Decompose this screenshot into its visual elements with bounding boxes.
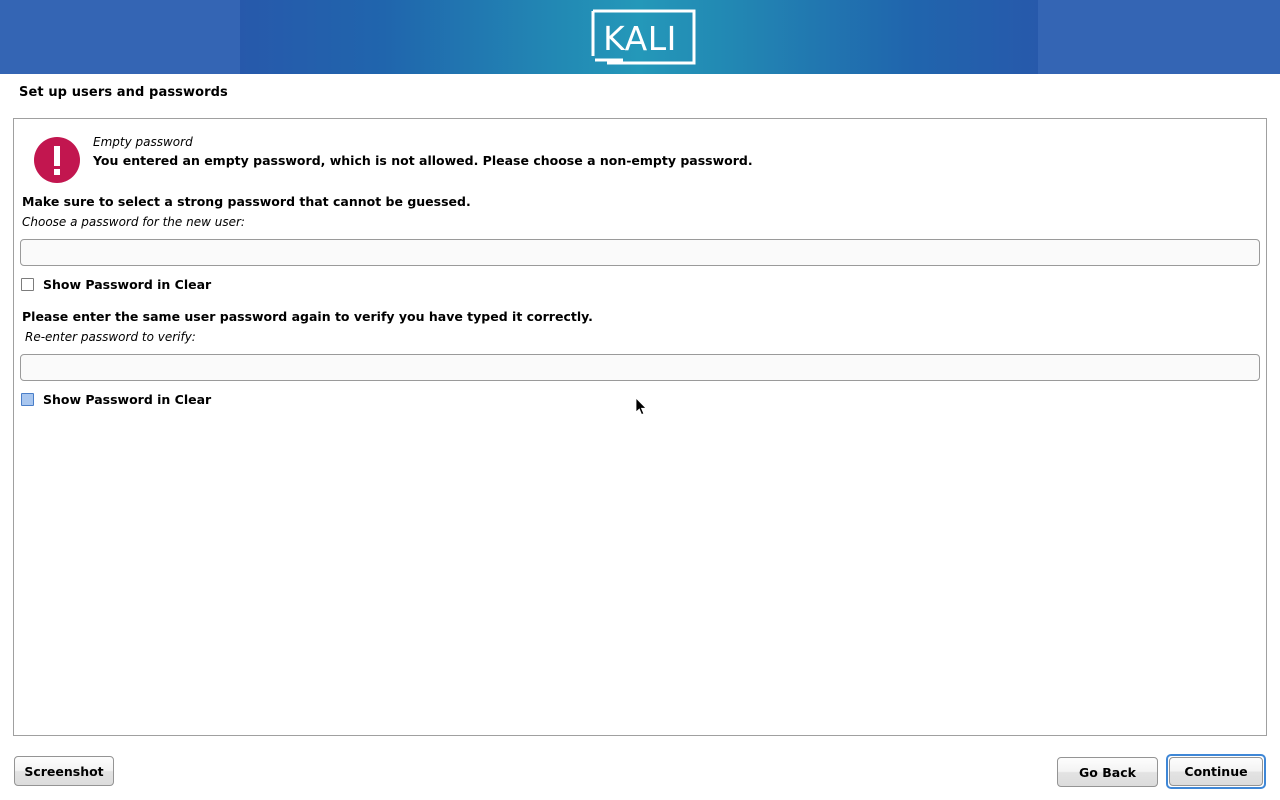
show-password-checkbox-2[interactable]: [21, 393, 34, 406]
verify-field-label: Re-enter password to verify:: [25, 330, 196, 344]
password-field-label: Choose a password for the new user:: [22, 215, 245, 229]
error-exclamation-icon: [34, 137, 80, 183]
show-password-checkbox-row-1[interactable]: Show Password in Clear: [21, 277, 211, 292]
error-title: Empty password: [93, 135, 193, 149]
kali-logo: KALI: [583, 8, 697, 66]
password-instruction: Make sure to select a strong password th…: [22, 194, 471, 209]
svg-text:KALI: KALI: [603, 19, 677, 58]
go-back-button[interactable]: Go Back: [1057, 757, 1158, 787]
continue-button[interactable]: Continue: [1169, 757, 1263, 786]
show-password-checkbox-label-2: Show Password in Clear: [43, 392, 211, 407]
show-password-checkbox-label-1: Show Password in Clear: [43, 277, 211, 292]
verify-password-input[interactable]: [20, 354, 1260, 381]
show-password-checkbox-1[interactable]: [21, 278, 34, 291]
page-title: Set up users and passwords: [19, 85, 228, 100]
installer-content-panel: Empty password You entered an empty pass…: [13, 118, 1267, 736]
password-input[interactable]: [20, 239, 1260, 266]
screenshot-button[interactable]: Screenshot: [14, 756, 114, 786]
show-password-checkbox-row-2[interactable]: Show Password in Clear: [21, 392, 211, 407]
verify-instruction: Please enter the same user password agai…: [22, 309, 593, 324]
continue-button-focus-ring: Continue: [1166, 754, 1266, 789]
error-message: You entered an empty password, which is …: [93, 153, 753, 168]
kali-banner: KALI: [0, 0, 1280, 74]
